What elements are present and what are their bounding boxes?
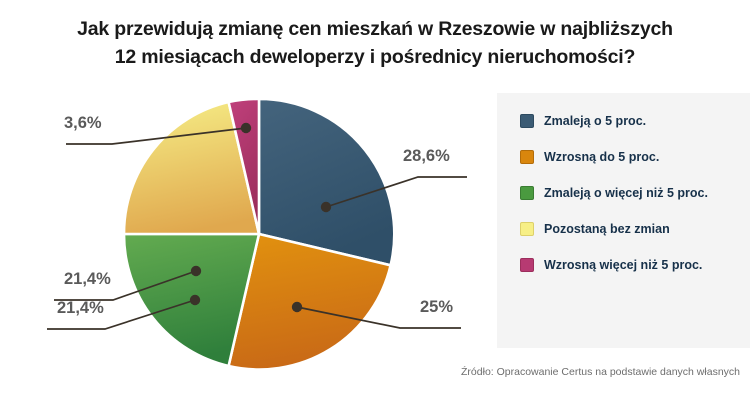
title-line-2: 12 miesiącach deweloperzy i pośrednicy n… — [0, 44, 750, 72]
data-label-orange: 25% — [420, 298, 453, 317]
legend-label-magenta: Wzrosną więcej niż 5 proc. — [544, 258, 702, 272]
legend-item-zmaleja-o-wiecej-niz-5-proc[interactable]: Zmaleją o więcej niż 5 proc. — [520, 184, 708, 202]
legend-item-wzrosna-wiecej-niz-5-proc[interactable]: Wzrosną więcej niż 5 proc. — [520, 256, 702, 274]
source-note: Źródło: Opracowanie Certus na podstawie … — [430, 366, 740, 378]
leader-dot-orange — [292, 302, 302, 312]
leader-dot-blue — [321, 202, 331, 212]
chart-page: Jak przewidują zmianę cen mieszkań w Rze… — [0, 0, 750, 400]
pie-chart: 28,6% 25% 21,4% 21,4% 3,6% — [0, 85, 500, 385]
legend-label-blue: Zmaleją o 5 proc. — [544, 114, 646, 128]
leader-dot-yellow — [191, 266, 201, 276]
leader-dot-green — [190, 295, 200, 305]
title-line-1: Jak przewidują zmianę cen mieszkań w Rze… — [0, 16, 750, 44]
data-label-blue: 28,6% — [403, 147, 450, 166]
legend-swatch-icon-magenta — [520, 258, 534, 272]
page-title: Jak przewidują zmianę cen mieszkań w Rze… — [0, 16, 750, 71]
data-label-yellow: 21,4% — [64, 270, 111, 289]
pie-slices — [124, 99, 394, 370]
legend-swatch-icon-yellow — [520, 222, 534, 236]
legend-label-green: Zmaleją o więcej niż 5 proc. — [544, 186, 708, 200]
data-label-magenta: 3,6% — [64, 114, 102, 133]
legend-swatch-icon-green — [520, 186, 534, 200]
legend-swatch-icon-blue — [520, 114, 534, 128]
legend: Zmaleją o 5 proc. Wzrosną do 5 proc. Zma… — [497, 93, 750, 348]
legend-item-wzrosna-do-5-proc[interactable]: Wzrosną do 5 proc. — [520, 148, 659, 166]
data-label-green: 21,4% — [57, 299, 104, 318]
legend-label-orange: Wzrosną do 5 proc. — [544, 150, 659, 164]
leader-dot-magenta — [241, 123, 251, 133]
legend-item-pozostana-bez-zmian[interactable]: Pozostaną bez zmian — [520, 220, 670, 238]
legend-item-zmaleja-o-5-proc[interactable]: Zmaleją o 5 proc. — [520, 112, 646, 130]
legend-label-yellow: Pozostaną bez zmian — [544, 222, 670, 236]
legend-swatch-icon-orange — [520, 150, 534, 164]
